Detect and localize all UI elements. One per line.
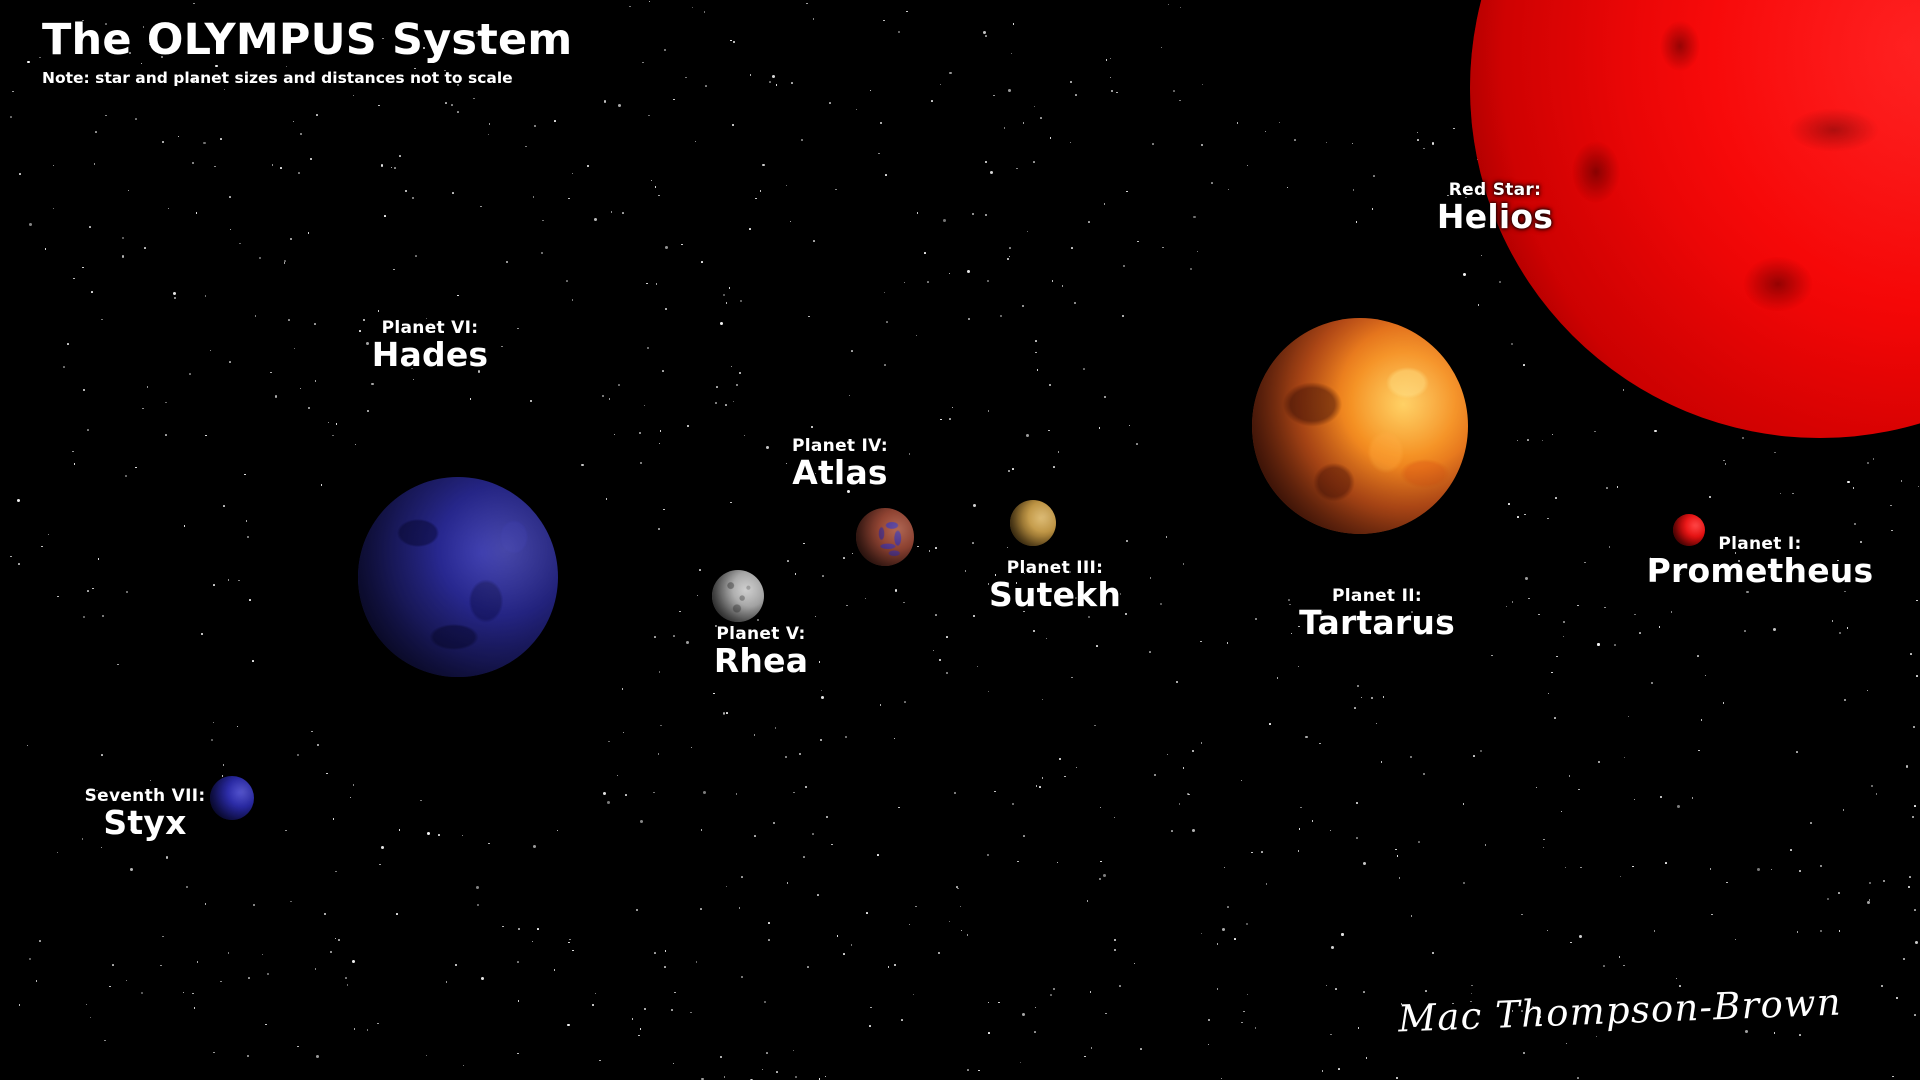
star-point bbox=[1126, 191, 1128, 193]
star-point bbox=[238, 580, 240, 582]
star-point bbox=[86, 1004, 88, 1006]
star-point bbox=[1161, 47, 1163, 49]
star-point bbox=[1352, 143, 1354, 145]
star-point bbox=[1363, 862, 1366, 865]
star-point bbox=[1042, 777, 1044, 779]
star-point bbox=[67, 343, 69, 345]
star-point bbox=[638, 1035, 640, 1037]
star-point bbox=[988, 1032, 990, 1034]
star-point bbox=[1363, 991, 1365, 993]
star-point bbox=[1035, 340, 1037, 342]
star-point bbox=[223, 764, 225, 766]
star-point bbox=[653, 792, 655, 794]
star-point bbox=[977, 666, 979, 668]
star-point bbox=[736, 793, 738, 795]
star-point bbox=[1353, 189, 1355, 191]
star-point bbox=[1088, 616, 1090, 618]
star-point bbox=[750, 74, 752, 76]
star-point bbox=[1192, 829, 1195, 832]
star-point bbox=[1110, 58, 1112, 60]
star-point bbox=[1052, 280, 1054, 282]
star-point bbox=[82, 267, 84, 269]
star-point bbox=[300, 133, 302, 135]
star-point bbox=[91, 291, 93, 293]
star-point bbox=[754, 734, 756, 736]
star-point bbox=[973, 615, 975, 617]
star-point bbox=[74, 463, 76, 465]
star-point bbox=[1677, 805, 1680, 808]
star-point bbox=[1692, 797, 1694, 799]
star-point bbox=[1008, 470, 1010, 472]
star-point bbox=[194, 1007, 196, 1009]
star-point bbox=[1381, 761, 1383, 763]
star-point bbox=[1251, 852, 1253, 854]
star-point bbox=[1410, 756, 1412, 758]
star-point bbox=[1007, 258, 1009, 260]
star-point bbox=[1022, 1013, 1025, 1016]
star-point bbox=[679, 611, 681, 613]
star-point bbox=[1050, 137, 1052, 139]
star-point bbox=[533, 196, 535, 198]
star-point bbox=[954, 792, 956, 794]
star-point bbox=[253, 904, 255, 906]
star-point bbox=[29, 223, 32, 226]
star-point bbox=[1780, 493, 1782, 495]
star-point bbox=[776, 1071, 778, 1073]
star-point bbox=[275, 395, 277, 397]
star-point bbox=[594, 218, 597, 221]
star-point bbox=[1106, 59, 1108, 61]
star-point bbox=[1037, 369, 1039, 371]
star-point bbox=[1105, 1013, 1107, 1015]
star-point bbox=[338, 939, 340, 941]
star-point bbox=[1034, 106, 1036, 108]
star-point bbox=[640, 462, 642, 464]
star-point bbox=[1326, 985, 1328, 987]
star-point bbox=[851, 350, 853, 352]
star-point bbox=[201, 633, 203, 635]
star-point bbox=[451, 104, 453, 106]
star-point bbox=[819, 1078, 821, 1080]
star-point bbox=[109, 986, 111, 988]
star-point bbox=[651, 180, 653, 182]
star-point bbox=[265, 1024, 267, 1026]
star-point bbox=[699, 569, 701, 571]
star-point bbox=[1908, 886, 1910, 888]
star-point bbox=[713, 693, 715, 695]
star-point bbox=[665, 246, 668, 249]
star-point bbox=[1910, 653, 1912, 655]
star-point bbox=[1116, 92, 1118, 94]
star-point bbox=[726, 712, 728, 714]
star-point bbox=[1114, 949, 1116, 951]
star-point bbox=[1026, 434, 1029, 437]
star-point bbox=[83, 616, 85, 618]
star-point bbox=[135, 118, 137, 120]
star-point bbox=[488, 134, 490, 136]
star-point bbox=[618, 104, 621, 107]
star-point bbox=[909, 924, 911, 926]
star-point bbox=[1192, 750, 1194, 752]
star-point bbox=[1034, 1031, 1036, 1033]
star-point bbox=[880, 704, 882, 706]
star-point bbox=[101, 319, 103, 321]
star-point bbox=[1577, 1077, 1579, 1079]
star-point bbox=[773, 822, 775, 824]
star-point bbox=[1383, 696, 1385, 698]
star-point bbox=[502, 926, 504, 928]
star-point bbox=[967, 1069, 969, 1071]
star-point bbox=[1114, 817, 1116, 819]
star-point bbox=[795, 1076, 797, 1078]
star-point bbox=[691, 747, 693, 749]
star-point bbox=[354, 1028, 356, 1030]
star-point bbox=[1746, 591, 1748, 593]
star-point bbox=[462, 835, 464, 837]
star-point bbox=[554, 969, 556, 971]
star-point bbox=[762, 1069, 764, 1071]
star-point bbox=[754, 835, 756, 837]
star-point bbox=[1570, 942, 1572, 944]
star-point bbox=[744, 435, 746, 437]
star-point bbox=[542, 220, 544, 222]
star-point bbox=[1200, 641, 1202, 643]
star-point bbox=[229, 361, 231, 363]
star-point bbox=[1222, 928, 1225, 931]
star-point bbox=[1901, 480, 1903, 482]
star-point bbox=[1000, 315, 1002, 317]
star-point bbox=[39, 940, 41, 942]
star-point bbox=[690, 1012, 692, 1014]
star-point bbox=[1111, 90, 1113, 92]
star-point bbox=[938, 952, 940, 954]
star-point bbox=[1287, 187, 1289, 189]
star-point bbox=[1180, 7, 1182, 9]
star-point bbox=[949, 418, 951, 420]
star-point bbox=[1009, 256, 1011, 258]
star-point bbox=[766, 1052, 768, 1054]
star-point bbox=[314, 323, 316, 325]
star-point bbox=[1125, 613, 1127, 615]
star-point bbox=[1173, 90, 1175, 92]
star-point bbox=[724, 1076, 726, 1078]
star-point bbox=[1839, 930, 1841, 932]
star-point bbox=[12, 91, 14, 93]
star-point bbox=[223, 505, 225, 507]
star-point bbox=[1023, 122, 1025, 124]
star-point bbox=[1247, 165, 1249, 167]
star-point bbox=[228, 579, 230, 581]
star-point bbox=[446, 981, 448, 983]
star-point bbox=[393, 269, 395, 271]
star-point bbox=[1004, 127, 1006, 129]
star-point bbox=[1087, 900, 1089, 902]
star-point bbox=[394, 167, 396, 169]
star-point bbox=[330, 951, 332, 953]
star-point bbox=[821, 690, 823, 692]
star-point bbox=[609, 398, 611, 400]
star-point bbox=[716, 386, 718, 388]
star-point bbox=[1659, 626, 1661, 628]
star-point bbox=[1208, 1019, 1210, 1021]
star-point bbox=[1279, 122, 1281, 124]
star-point bbox=[946, 672, 948, 674]
star-point bbox=[1070, 142, 1072, 144]
star-point bbox=[1099, 878, 1101, 880]
star-point bbox=[1651, 682, 1653, 684]
star-point bbox=[967, 270, 970, 273]
celestial-body-sutekh bbox=[1010, 500, 1056, 546]
star-point bbox=[901, 1019, 903, 1021]
star-point bbox=[220, 138, 222, 140]
star-point bbox=[659, 443, 661, 445]
star-point bbox=[835, 189, 837, 191]
star-point bbox=[639, 432, 641, 434]
star-point bbox=[904, 282, 906, 284]
star-point bbox=[1057, 862, 1059, 864]
star-point bbox=[723, 294, 725, 296]
star-point bbox=[19, 173, 21, 175]
star-point bbox=[1890, 505, 1892, 507]
star-point bbox=[1149, 651, 1151, 653]
star-point bbox=[1512, 601, 1514, 603]
star-point bbox=[29, 958, 31, 960]
star-point bbox=[865, 598, 867, 600]
star-point bbox=[150, 780, 152, 782]
star-point bbox=[1373, 175, 1375, 177]
star-point bbox=[532, 941, 534, 943]
star-point bbox=[916, 335, 918, 337]
star-point bbox=[846, 605, 848, 607]
star-point bbox=[1009, 247, 1011, 249]
star-point bbox=[592, 1004, 594, 1006]
star-point bbox=[987, 280, 989, 282]
star-point bbox=[1187, 793, 1189, 795]
star-point bbox=[786, 185, 788, 187]
star-point bbox=[1096, 645, 1098, 647]
star-point bbox=[1366, 1057, 1368, 1059]
star-point bbox=[1188, 794, 1190, 796]
star-point bbox=[1660, 796, 1662, 798]
star-point bbox=[1916, 600, 1918, 602]
star-point bbox=[525, 146, 527, 148]
star-point bbox=[663, 509, 665, 511]
star-point bbox=[888, 966, 890, 968]
star-point bbox=[1040, 117, 1042, 119]
star-point bbox=[1577, 605, 1579, 607]
star-point bbox=[741, 976, 743, 978]
star-point bbox=[993, 95, 995, 97]
star-point bbox=[1471, 985, 1473, 987]
star-point bbox=[775, 727, 777, 729]
star-point bbox=[122, 237, 124, 239]
star-point bbox=[604, 100, 606, 102]
star-point bbox=[646, 283, 648, 285]
star-point bbox=[1243, 1011, 1245, 1013]
star-point bbox=[117, 664, 119, 666]
star-point bbox=[1255, 1027, 1257, 1029]
star-point bbox=[696, 961, 698, 963]
star-point bbox=[654, 636, 656, 638]
star-point bbox=[1088, 221, 1090, 223]
star-point bbox=[1909, 876, 1911, 878]
star-point bbox=[801, 139, 803, 141]
star-point bbox=[845, 736, 847, 738]
star-point bbox=[1876, 793, 1878, 795]
star-point bbox=[952, 407, 954, 409]
star-point bbox=[704, 11, 706, 13]
star-point bbox=[1556, 656, 1558, 658]
star-point bbox=[1774, 1032, 1776, 1034]
star-point bbox=[144, 247, 146, 249]
star-point bbox=[1396, 1077, 1398, 1079]
star-point bbox=[1914, 805, 1916, 807]
star-point bbox=[1399, 877, 1401, 879]
star-point bbox=[98, 558, 100, 560]
star-point bbox=[412, 197, 414, 199]
star-point bbox=[1110, 77, 1112, 79]
star-point bbox=[1628, 716, 1630, 718]
star-point bbox=[1881, 985, 1883, 987]
star-point bbox=[1847, 627, 1849, 629]
star-point bbox=[126, 591, 128, 593]
label-prometheus: Planet I: Prometheus bbox=[1610, 536, 1910, 588]
star-point bbox=[883, 20, 885, 22]
star-point bbox=[856, 109, 858, 111]
star-point bbox=[1326, 142, 1328, 144]
star-point bbox=[1160, 603, 1162, 605]
star-point bbox=[1551, 672, 1553, 674]
star-point bbox=[1463, 882, 1465, 884]
star-point bbox=[904, 701, 906, 703]
star-point bbox=[1896, 997, 1898, 999]
star-point bbox=[1227, 642, 1229, 644]
star-point bbox=[284, 262, 286, 264]
star-point bbox=[880, 122, 882, 124]
star-point bbox=[994, 791, 996, 793]
star-point bbox=[290, 901, 292, 903]
star-point bbox=[769, 81, 771, 83]
star-point bbox=[1277, 677, 1279, 679]
star-point bbox=[1709, 496, 1711, 498]
star-point bbox=[197, 961, 199, 963]
star-point bbox=[211, 739, 213, 741]
star-point bbox=[943, 219, 946, 222]
star-point bbox=[1217, 988, 1219, 990]
star-point bbox=[1697, 655, 1699, 657]
star-point bbox=[787, 560, 789, 562]
star-point bbox=[122, 255, 124, 257]
star-point bbox=[940, 419, 942, 421]
star-point bbox=[687, 425, 689, 427]
star-point bbox=[1883, 880, 1885, 882]
star-point bbox=[1071, 677, 1073, 679]
sutekh-surface-mottle bbox=[1010, 500, 1056, 546]
star-point bbox=[1563, 621, 1565, 623]
title-block: The OLYMPUS System Note: star and planet… bbox=[42, 18, 572, 87]
star-point bbox=[1237, 122, 1239, 124]
star-point bbox=[1255, 618, 1257, 620]
star-point bbox=[1620, 876, 1622, 878]
star-point bbox=[347, 984, 349, 986]
star-point bbox=[53, 165, 55, 167]
star-point bbox=[826, 816, 828, 818]
star-point bbox=[371, 383, 373, 385]
star-point bbox=[701, 829, 703, 831]
star-point bbox=[45, 248, 47, 250]
artist-signature: Mac Thompson-Brown bbox=[1397, 980, 1842, 1040]
star-point bbox=[1543, 847, 1545, 849]
star-point bbox=[1771, 869, 1773, 871]
star-point bbox=[622, 212, 624, 214]
star-point bbox=[884, 292, 886, 294]
star-point bbox=[1062, 285, 1064, 287]
star-point bbox=[104, 1040, 106, 1042]
star-point bbox=[1844, 699, 1846, 701]
star-point bbox=[10, 556, 12, 558]
star-point bbox=[457, 111, 459, 113]
star-point bbox=[671, 1009, 673, 1011]
star-point bbox=[917, 546, 919, 548]
star-point bbox=[852, 553, 854, 555]
star-point bbox=[730, 502, 732, 504]
star-point bbox=[793, 792, 795, 794]
star-point bbox=[927, 281, 929, 283]
star-point bbox=[917, 212, 919, 214]
star-point bbox=[660, 725, 662, 727]
star-point bbox=[790, 221, 792, 223]
star-point bbox=[723, 713, 725, 715]
star-point bbox=[870, 90, 872, 92]
label-helios-name: Helios bbox=[1400, 200, 1590, 234]
star-point bbox=[1676, 978, 1678, 980]
star-point bbox=[1119, 985, 1121, 987]
star-point bbox=[1710, 868, 1712, 870]
star-point bbox=[1623, 965, 1625, 967]
star-point bbox=[987, 854, 989, 856]
star-point bbox=[316, 114, 318, 116]
star-point bbox=[426, 1055, 428, 1057]
star-point bbox=[1042, 699, 1044, 701]
star-point bbox=[1246, 923, 1248, 925]
star-point bbox=[310, 158, 312, 160]
star-point bbox=[1100, 861, 1102, 863]
star-point bbox=[413, 379, 415, 381]
star-point bbox=[815, 616, 817, 618]
star-point bbox=[1711, 914, 1713, 916]
star-point bbox=[1033, 161, 1035, 163]
label-rhea: Planet V: Rhea bbox=[668, 626, 854, 678]
star-point bbox=[1639, 632, 1641, 634]
star-point bbox=[27, 61, 29, 63]
star-point bbox=[333, 818, 335, 820]
star-point bbox=[1049, 384, 1051, 386]
star-point bbox=[1154, 774, 1156, 776]
star-point bbox=[732, 124, 734, 126]
star-point bbox=[399, 829, 401, 831]
star-point bbox=[255, 315, 257, 317]
star-point bbox=[1634, 799, 1636, 801]
label-prometheus-name: Prometheus bbox=[1610, 554, 1910, 588]
star-point bbox=[1463, 273, 1466, 276]
star-point bbox=[729, 287, 731, 289]
star-point bbox=[1832, 620, 1834, 622]
star-point bbox=[1265, 131, 1267, 133]
star-point bbox=[1563, 636, 1565, 638]
star-point bbox=[821, 696, 824, 699]
star-point bbox=[1723, 702, 1725, 704]
star-point bbox=[935, 547, 937, 549]
